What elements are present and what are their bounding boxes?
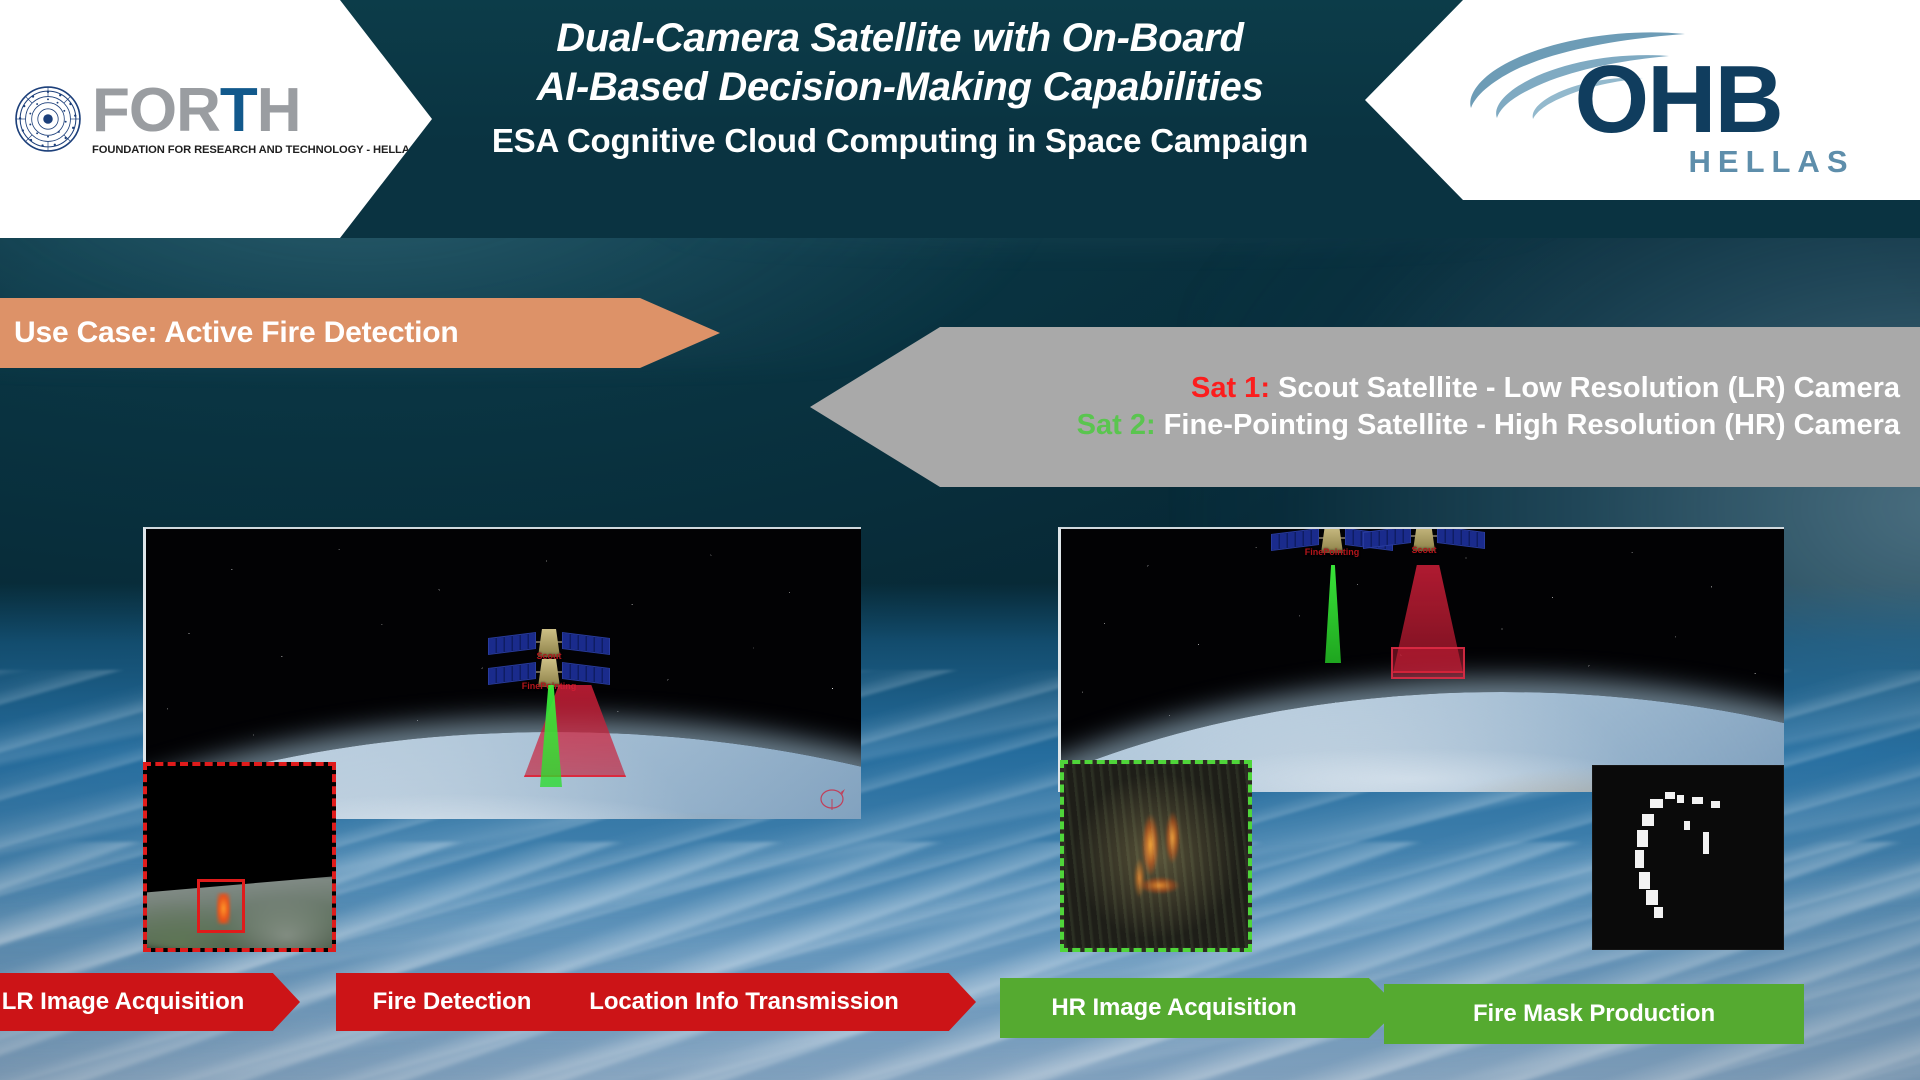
ohb-logo-banner: OHB HELLAS xyxy=(1365,0,1920,200)
pipeline-step-label: Fire Mask Production xyxy=(1473,1000,1715,1028)
satellite-label-finepointing: FinePointing xyxy=(1305,547,1360,557)
sat2-info-line: Sat 2: Fine-Pointing Satellite - High Re… xyxy=(1077,409,1900,442)
use-case-banner: Use Case: Active Fire Detection xyxy=(0,298,720,368)
pipeline-step-fire-mask-production[interactable]: Fire Mask Production xyxy=(1384,984,1804,1044)
pipeline-step-hr-image-acquisition[interactable]: HR Image Acquisition xyxy=(1000,978,1400,1038)
pipeline-step-label: Fire Detection xyxy=(373,988,532,1016)
satellite-model-finepointing: FinePointing xyxy=(1321,527,1343,555)
forth-tagline: FOUNDATION FOR RESEARCH AND TECHNOLOGY -… xyxy=(92,144,417,156)
use-case-label: Use Case: Active Fire Detection xyxy=(0,316,459,350)
phaistos-disc-seal-icon xyxy=(14,85,82,153)
sat1-info-line: Sat 1: Scout Satellite - Low Resolution … xyxy=(1191,372,1900,405)
pipeline-step-label: HR Image Acquisition xyxy=(1051,994,1296,1022)
satellite-model-scout: Scout xyxy=(1413,527,1435,553)
ohb-region-label: HELLAS xyxy=(1689,146,1855,177)
orientation-axis-icon xyxy=(817,785,847,811)
forth-wordmark: FORTH xyxy=(92,82,301,141)
hr-vegetation-texture xyxy=(1064,764,1248,948)
satellite-label-scout: Scout xyxy=(1411,545,1436,555)
satellite-model-finepointing: FinePointing xyxy=(538,659,560,689)
lr-camera-capture[interactable] xyxy=(143,762,336,952)
sat2-description: Fine-Pointing Satellite - High Resolutio… xyxy=(1156,409,1900,441)
pipeline-step-lr-image-acquisition[interactable]: LR Image Acquisition xyxy=(0,973,300,1031)
sat1-description: Scout Satellite - Low Resolution (LR) Ca… xyxy=(1270,372,1900,404)
fire-mask-output[interactable] xyxy=(1592,765,1784,950)
pipeline-step-location-info-transmission[interactable]: Location Info Transmission xyxy=(556,973,976,1031)
forth-logo-banner: FORTH FOUNDATION FOR RESEARCH AND TECHNO… xyxy=(0,0,432,238)
slide-header: FORTH FOUNDATION FOR RESEARCH AND TECHNO… xyxy=(0,0,1920,238)
page-subtitle: ESA Cognitive Cloud Computing in Space C… xyxy=(400,116,1400,166)
forth-wordmark-part2: H xyxy=(257,76,301,145)
slide-canvas: FORTH FOUNDATION FOR RESEARCH AND TECHNO… xyxy=(0,0,1920,1080)
pipeline-step-label: LR Image Acquisition xyxy=(2,988,244,1016)
imaging-footprint xyxy=(1391,647,1465,679)
sat2-tag: Sat 2: xyxy=(1077,409,1156,441)
forth-wordmark-highlight: T xyxy=(220,76,257,145)
satellite-model-scout: Scout xyxy=(538,629,560,659)
satellite-info-banner: Sat 1: Scout Satellite - Low Resolution … xyxy=(810,327,1920,487)
forth-wordmark-part1: FOR xyxy=(92,76,220,145)
hr-camera-capture[interactable] xyxy=(1060,760,1252,952)
ohb-wordmark: OHB xyxy=(1575,52,1782,148)
page-title-line1: Dual-Camera Satellite with On-Board xyxy=(400,14,1400,63)
sat1-tag: Sat 1: xyxy=(1191,372,1270,404)
fire-detection-box xyxy=(197,879,245,934)
pipeline-step-label: Location Info Transmission xyxy=(589,988,898,1016)
dual-satellite-simulation-view[interactable]: FinePointing Scout xyxy=(1058,527,1784,792)
page-title-line2: AI-Based Decision-Making Capabilities xyxy=(400,63,1400,112)
title-block: Dual-Camera Satellite with On-Board AI-B… xyxy=(400,14,1400,165)
